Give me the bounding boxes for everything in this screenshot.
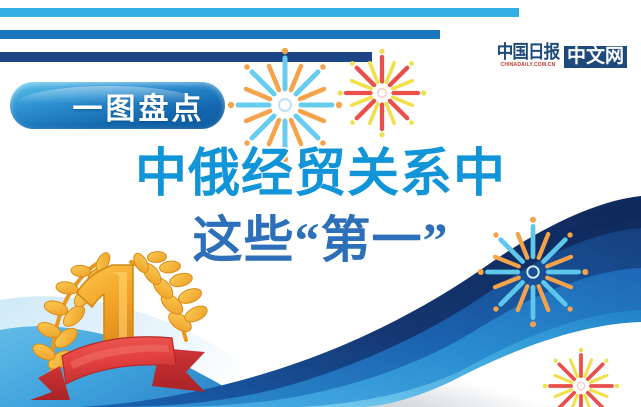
poster-canvas: 中国日报 CHINADAILY.COM.CN 中文网 一图盘点 — [0, 0, 641, 407]
firework-blue-orange-right-icon — [478, 217, 589, 328]
fireworks-front-layer — [0, 0, 641, 407]
firework-red-yellow-bottom-icon — [543, 348, 619, 407]
